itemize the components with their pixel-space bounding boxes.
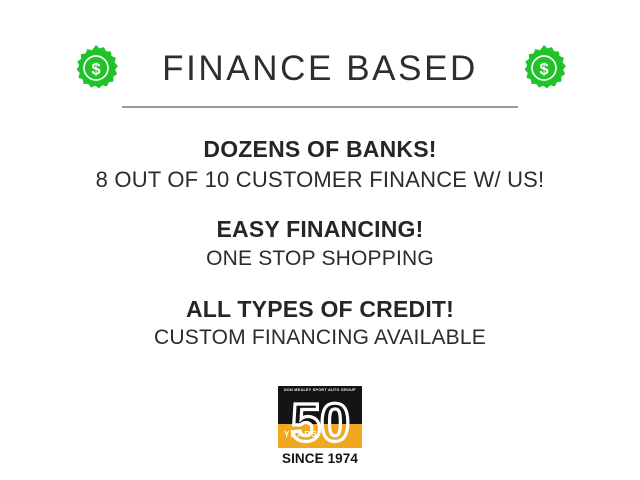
logo-since-label: SINCE 1974: [278, 452, 362, 466]
finance-based-slide: $ FINANCE BASED $ DOZENS OF BANKS! 8 OUT…: [0, 0, 640, 480]
body-copy: DOZENS OF BANKS! 8 OUT OF 10 CUSTOMER FI…: [0, 134, 640, 353]
svg-text:$: $: [92, 61, 101, 79]
gear-dollar-icon: $: [72, 44, 120, 92]
text-block-credit: ALL TYPES OF CREDIT! CUSTOM FINANCING AV…: [0, 294, 640, 353]
anniversary-logo: DON MEALEY SPORT AUTO GROUP 50 YEARS SIN…: [278, 386, 362, 466]
svg-text:$: $: [539, 61, 548, 79]
page-title: FINANCE BASED: [162, 51, 478, 86]
text-block-banks: DOZENS OF BANKS! 8 OUT OF 10 CUSTOMER FI…: [0, 134, 640, 194]
headline-easy-financing: EASY FINANCING!: [0, 214, 640, 245]
gear-dollar-icon: $: [520, 44, 568, 92]
header: $ FINANCE BASED $: [0, 44, 640, 92]
headline-banks: DOZENS OF BANKS!: [0, 134, 640, 165]
logo-mark: DON MEALEY SPORT AUTO GROUP 50 YEARS: [278, 386, 362, 448]
title-divider: [122, 106, 518, 108]
headline-credit: ALL TYPES OF CREDIT!: [0, 294, 640, 325]
logo-years-label: YEARS: [284, 431, 318, 439]
logo-fifty-numerals: 50: [278, 393, 362, 448]
subline-banks: 8 OUT OF 10 CUSTOMER FINANCE W/ US!: [0, 165, 640, 195]
subline-credit: CUSTOM FINANCING AVAILABLE: [0, 324, 640, 353]
text-block-easy-financing: EASY FINANCING! ONE STOP SHOPPING: [0, 214, 640, 273]
svg-text:50: 50: [291, 393, 349, 448]
subline-easy-financing: ONE STOP SHOPPING: [0, 245, 640, 274]
